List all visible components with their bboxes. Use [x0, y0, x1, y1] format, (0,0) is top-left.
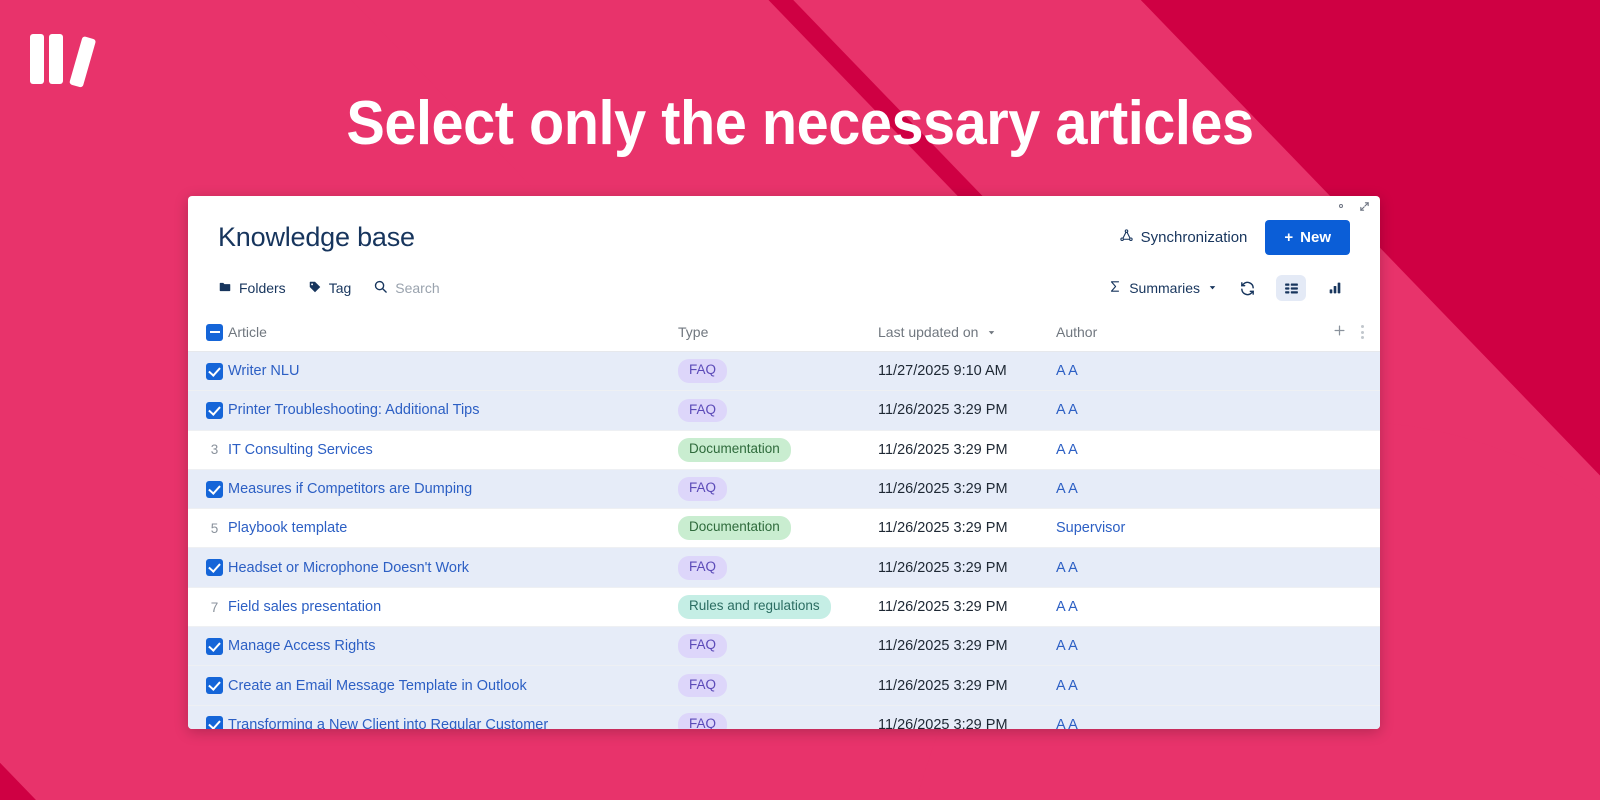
row-select-cell [188, 666, 228, 705]
type-badge: FAQ [678, 399, 727, 423]
tag-filter[interactable]: Tag [308, 280, 352, 297]
knowledge-base-card: Knowledge base Synchronization + New [188, 196, 1380, 729]
column-header-last-updated[interactable]: Last updated on [878, 315, 1056, 352]
article-cell: Create an Email Message Template in Outl… [228, 666, 678, 705]
book-spine-icon [49, 34, 63, 84]
row-number: 7 [206, 600, 223, 615]
sync-triangle-icon [1119, 228, 1134, 247]
folders-label: Folders [239, 280, 286, 296]
last-updated-cell: 11/26/2025 3:29 PM [878, 430, 1056, 469]
select-all-checkbox[interactable] [206, 324, 223, 341]
table-row[interactable]: 3IT Consulting ServicesDocumentation11/2… [188, 430, 1380, 469]
table-row[interactable]: Create an Email Message Template in Outl… [188, 666, 1380, 705]
folders-filter[interactable]: Folders [218, 280, 286, 297]
article-cell: Playbook template [228, 509, 678, 548]
row-actions-cell [1318, 352, 1380, 391]
table-header-row: Article Type Last updated on Author [188, 315, 1380, 352]
row-actions-cell [1318, 666, 1380, 705]
article-link[interactable]: Playbook template [228, 520, 347, 536]
row-select-cell [188, 548, 228, 587]
row-actions-cell [1318, 509, 1380, 548]
author-link[interactable]: A A [1056, 638, 1078, 654]
type-badge: FAQ [678, 359, 727, 383]
table-row[interactable]: Measures if Competitors are DumpingFAQ11… [188, 469, 1380, 508]
table-row[interactable]: Transforming a New Client into Regular C… [188, 705, 1380, 729]
toolbar-row: Folders Tag Sear [218, 275, 1350, 301]
plus-icon: + [1284, 229, 1293, 246]
column-header-article[interactable]: Article [228, 315, 678, 352]
author-cell: A A [1056, 587, 1318, 626]
page-headline: Select only the necessary articles [56, 88, 1544, 159]
header-row: Knowledge base Synchronization + New [218, 220, 1350, 255]
article-cell: Writer NLU [228, 352, 678, 391]
article-cell: Measures if Competitors are Dumping [228, 469, 678, 508]
card-header: Knowledge base Synchronization + New [188, 196, 1380, 301]
chevron-down-icon [982, 324, 997, 340]
last-updated-cell: 11/27/2025 9:10 AM [878, 352, 1056, 391]
type-badge: Rules and regulations [678, 595, 831, 619]
expand-icon[interactable] [1359, 201, 1370, 212]
book-spine-icon [30, 34, 44, 84]
type-cell: FAQ [678, 705, 878, 729]
row-select-cell [188, 705, 228, 729]
author-cell: A A [1056, 666, 1318, 705]
table-head: Article Type Last updated on Author [188, 315, 1380, 352]
author-link[interactable]: A A [1056, 402, 1078, 418]
author-cell: A A [1056, 352, 1318, 391]
row-checkbox[interactable] [206, 363, 223, 380]
author-link[interactable]: A A [1056, 481, 1078, 497]
folder-icon [218, 280, 232, 297]
row-actions-cell [1318, 548, 1380, 587]
row-select-cell [188, 469, 228, 508]
add-column-icon[interactable] [1332, 323, 1347, 341]
last-updated-cell: 11/26/2025 3:29 PM [878, 627, 1056, 666]
row-checkbox[interactable] [206, 402, 223, 419]
row-actions-cell [1318, 391, 1380, 430]
type-badge: Documentation [678, 438, 791, 462]
type-badge: FAQ [678, 477, 727, 501]
author-cell: A A [1056, 469, 1318, 508]
author-cell: A A [1056, 705, 1318, 729]
row-select-cell [188, 391, 228, 430]
row-checkbox[interactable] [206, 481, 223, 498]
more-options-icon[interactable] [1361, 325, 1364, 339]
select-all-cell [188, 315, 228, 352]
author-link[interactable]: A A [1056, 442, 1078, 458]
author-link[interactable]: Supervisor [1056, 520, 1125, 536]
type-cell: FAQ [678, 627, 878, 666]
type-cell: FAQ [678, 391, 878, 430]
row-actions-cell [1318, 705, 1380, 729]
author-cell: Supervisor [1056, 509, 1318, 548]
row-checkbox[interactable] [206, 716, 223, 729]
last-updated-cell: 11/26/2025 3:29 PM [878, 469, 1056, 508]
type-cell: Rules and regulations [678, 587, 878, 626]
summaries-label: Summaries [1129, 280, 1200, 296]
sigma-icon [1108, 279, 1122, 297]
article-cell: Headset or Microphone Doesn't Work [228, 548, 678, 587]
last-updated-cell: 11/26/2025 3:29 PM [878, 705, 1056, 729]
type-cell: Documentation [678, 509, 878, 548]
row-select-cell [188, 627, 228, 666]
column-header-actions [1318, 315, 1380, 352]
type-badge: FAQ [678, 674, 727, 698]
books-logo [28, 30, 98, 85]
table-row[interactable]: Printer Troubleshooting: Additional Tips… [188, 391, 1380, 430]
type-badge: FAQ [678, 713, 727, 729]
row-select-cell: 5 [188, 509, 228, 548]
article-link[interactable]: IT Consulting Services [228, 442, 373, 458]
synchronization-label: Synchronization [1141, 229, 1248, 246]
last-updated-cell: 11/26/2025 3:29 PM [878, 509, 1056, 548]
author-link[interactable]: A A [1056, 678, 1078, 694]
row-checkbox[interactable] [206, 559, 223, 576]
table-row[interactable]: 7Field sales presentationRules and regul… [188, 587, 1380, 626]
table-view-button[interactable] [1276, 275, 1306, 301]
refresh-button[interactable] [1232, 275, 1262, 301]
article-cell: Field sales presentation [228, 587, 678, 626]
row-checkbox[interactable] [206, 677, 223, 694]
type-badge: FAQ [678, 556, 727, 580]
tag-label: Tag [329, 280, 352, 296]
articles-table: Article Type Last updated on Author [188, 315, 1380, 729]
row-select-cell [188, 352, 228, 391]
row-checkbox[interactable] [206, 638, 223, 655]
column-header-author[interactable]: Author [1056, 315, 1318, 352]
gear-icon[interactable] [1335, 200, 1347, 212]
page-title: Knowledge base [218, 222, 415, 253]
search-placeholder: Search [395, 280, 439, 296]
table-body: Writer NLUFAQ11/27/2025 9:10 AMA APrinte… [188, 352, 1380, 730]
author-cell: A A [1056, 430, 1318, 469]
type-cell: FAQ [678, 548, 878, 587]
type-badge: Documentation [678, 516, 791, 540]
last-updated-cell: 11/26/2025 3:29 PM [878, 391, 1056, 430]
row-number: 3 [206, 442, 223, 457]
article-link[interactable]: Writer NLU [228, 363, 299, 379]
new-button-label: New [1300, 229, 1331, 246]
author-link[interactable]: A A [1056, 599, 1078, 615]
column-header-type[interactable]: Type [678, 315, 878, 352]
type-cell: FAQ [678, 352, 878, 391]
row-actions-cell [1318, 627, 1380, 666]
toolbar-left: Folders Tag Sear [218, 279, 440, 297]
header-actions: Synchronization + New [1119, 220, 1350, 255]
type-cell: FAQ [678, 469, 878, 508]
last-updated-cell: 11/26/2025 3:29 PM [878, 666, 1056, 705]
last-updated-cell: 11/26/2025 3:29 PM [878, 548, 1056, 587]
article-link[interactable]: Headset or Microphone Doesn't Work [228, 560, 469, 576]
search-input[interactable]: Search [373, 279, 439, 297]
author-link[interactable]: A A [1056, 560, 1078, 576]
book-spine-tilted-icon [69, 36, 96, 88]
row-number: 5 [206, 521, 223, 536]
chart-view-button[interactable] [1320, 275, 1350, 301]
card-corner-controls [1335, 200, 1370, 212]
article-link[interactable]: Printer Troubleshooting: Additional Tips [228, 402, 479, 418]
table-row[interactable]: Manage Access RightsFAQ11/26/2025 3:29 P… [188, 627, 1380, 666]
article-link[interactable]: Create an Email Message Template in Outl… [228, 678, 527, 694]
row-select-cell: 7 [188, 587, 228, 626]
row-actions-cell [1318, 430, 1380, 469]
article-link[interactable]: Transforming a New Client into Regular C… [228, 717, 548, 729]
author-cell: A A [1056, 391, 1318, 430]
toolbar-right: Summaries [1108, 275, 1350, 301]
author-cell: A A [1056, 548, 1318, 587]
search-icon [373, 279, 388, 297]
column-header-last-updated-label: Last updated on [878, 324, 978, 340]
article-cell: Transforming a New Client into Regular C… [228, 705, 678, 729]
table-row[interactable]: Headset or Microphone Doesn't WorkFAQ11/… [188, 548, 1380, 587]
new-button[interactable]: + New [1265, 220, 1350, 255]
type-badge: FAQ [678, 634, 727, 658]
synchronization-button[interactable]: Synchronization [1119, 228, 1248, 247]
article-link[interactable]: Manage Access Rights [228, 638, 376, 654]
row-actions-cell [1318, 587, 1380, 626]
author-link[interactable]: A A [1056, 363, 1078, 379]
table-row[interactable]: 5Playbook templateDocumentation11/26/202… [188, 509, 1380, 548]
row-select-cell: 3 [188, 430, 228, 469]
type-cell: FAQ [678, 666, 878, 705]
article-cell: IT Consulting Services [228, 430, 678, 469]
author-link[interactable]: A A [1056, 717, 1078, 729]
article-link[interactable]: Measures if Competitors are Dumping [228, 481, 472, 497]
article-cell: Manage Access Rights [228, 627, 678, 666]
summaries-dropdown[interactable]: Summaries [1108, 279, 1218, 297]
row-actions-cell [1318, 469, 1380, 508]
article-cell: Printer Troubleshooting: Additional Tips [228, 391, 678, 430]
chevron-down-icon [1207, 280, 1218, 296]
author-cell: A A [1056, 627, 1318, 666]
table-row[interactable]: Writer NLUFAQ11/27/2025 9:10 AMA A [188, 352, 1380, 391]
article-link[interactable]: Field sales presentation [228, 599, 381, 615]
last-updated-cell: 11/26/2025 3:29 PM [878, 587, 1056, 626]
type-cell: Documentation [678, 430, 878, 469]
tag-icon [308, 280, 322, 297]
